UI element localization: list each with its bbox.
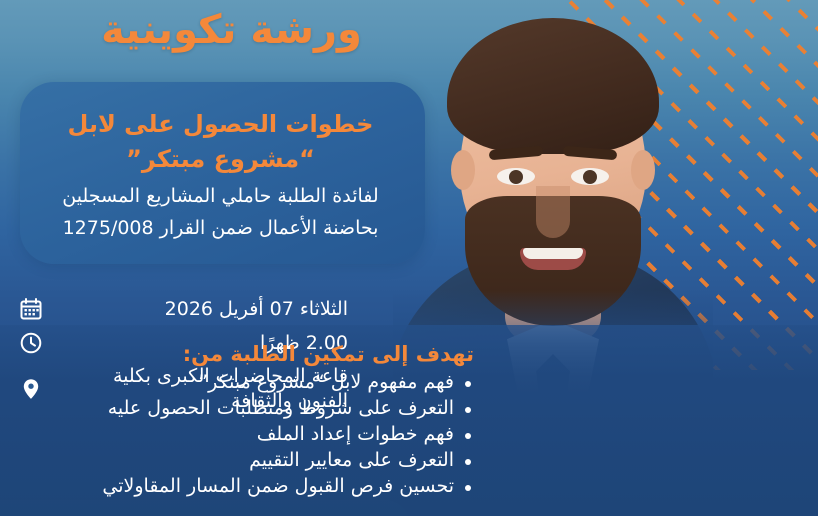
bullet-dot-icon <box>465 407 471 413</box>
list-item: تحسين فرص القبول ضمن المسار المقاولاتي <box>14 474 474 500</box>
workshop-subtitle-line2: بحاضنة الأعمال ضمن القرار 1275/008 <box>48 215 393 243</box>
workshop-poster: ورشة تكوينية خطوات الحصول على لابل “مشرو… <box>0 0 818 516</box>
workshop-title-line2: “مشروع مبتكر” <box>48 143 393 177</box>
objective-text: التعرف على معايير التقييم <box>249 449 454 471</box>
list-item: التعرف على شروط ومتطلبات الحصول عليه <box>14 396 474 422</box>
objectives-title: تهدف إلى تمكين الطلبة من: <box>14 341 474 367</box>
eye-left-shape <box>497 168 535 185</box>
ear-left-shape <box>451 150 475 190</box>
ear-right-shape <box>631 150 655 190</box>
list-item: فهم مفهوم لابل “مشروع مبتكر” <box>14 370 474 396</box>
objective-text: فهم خطوات إعداد الملف <box>257 423 454 445</box>
event-date-text: الثلاثاء 07 أفريل 2026 <box>58 297 348 322</box>
workshop-subtitle-line1: لفائدة الطلبة حاملي المشاريع المسجلين <box>48 183 393 211</box>
objectives-section: تهدف إلى تمكين الطلبة من: فهم مفهوم لابل… <box>14 341 474 499</box>
workshop-info-card: خطوات الحصول على لابل “مشروع مبتكر” لفائ… <box>20 82 425 264</box>
bullet-dot-icon <box>465 381 471 387</box>
mouth-shape <box>520 248 586 270</box>
objectives-list: فهم مفهوم لابل “مشروع مبتكر” التعرف على … <box>14 370 474 499</box>
workshop-title-line1: خطوات الحصول على لابل <box>48 108 393 142</box>
bullet-dot-icon <box>465 433 471 439</box>
page-title: ورشة تكوينية <box>0 6 818 54</box>
calendar-icon <box>18 296 44 322</box>
objective-text: التعرف على شروط ومتطلبات الحصول عليه <box>108 397 454 419</box>
teeth-shape <box>523 248 583 259</box>
list-item: التعرف على معايير التقييم <box>14 448 474 474</box>
objective-text: تحسين فرص القبول ضمن المسار المقاولاتي <box>102 475 454 497</box>
detail-row-date: الثلاثاء 07 أفريل 2026 <box>18 296 348 322</box>
eye-right-shape <box>571 168 609 185</box>
list-item: فهم خطوات إعداد الملف <box>14 422 474 448</box>
nose-shape <box>536 186 570 238</box>
bullet-dot-icon <box>465 485 471 491</box>
objective-text: فهم مفهوم لابل “مشروع مبتكر” <box>198 371 454 393</box>
bullet-dot-icon <box>465 459 471 465</box>
